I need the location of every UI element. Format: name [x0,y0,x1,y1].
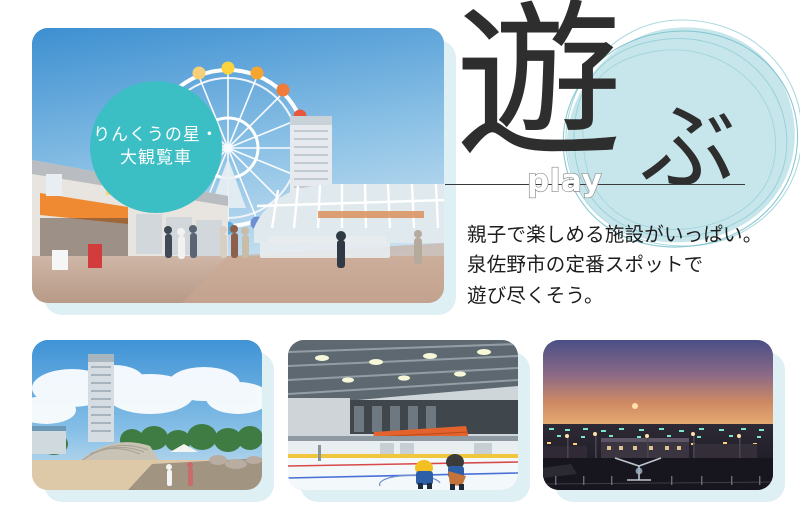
headline-romaji-play: play [527,163,602,199]
promo-poster: りんくうの星・ 大観覧車 [0,0,800,515]
badge-line-1: りんくうの星・ [93,124,219,147]
body-line-3: 遊び尽くそう。 [467,281,797,311]
thumb-card-rinku-park[interactable]: りんくう 公園 [32,340,262,490]
body-line-2: 泉佐野市の定番スポットで [467,250,797,280]
badge-line-2: 大観覧車 [120,147,192,170]
photo-kanku-sky-view [543,340,773,490]
photo-kanku-ice-arena [288,340,518,490]
photo-rinku-park [32,340,262,490]
headline-block: 遊 ぶ [455,22,795,202]
badge-rinku-star[interactable]: りんくうの星・ 大観覧車 [90,81,222,213]
headline-kanji-suffix: ぶ [640,100,736,196]
headline-kanji-main: 遊 [455,0,623,166]
body-line-1: 親子で楽しめる施設がいっぱい。 [467,220,797,250]
feature-card-rinku-star[interactable]: りんくうの星・ 大観覧車 [32,28,444,303]
thumb-card-kanku-sky-view[interactable]: 関空展望ホール スカイビュー [543,340,773,490]
thumb-card-kanku-ice-arena[interactable]: 関空アイス アリーナ [288,340,518,490]
body-copy: 親子で楽しめる施設がいっぱい。 泉佐野市の定番スポットで 遊び尽くそう。 [467,220,797,311]
